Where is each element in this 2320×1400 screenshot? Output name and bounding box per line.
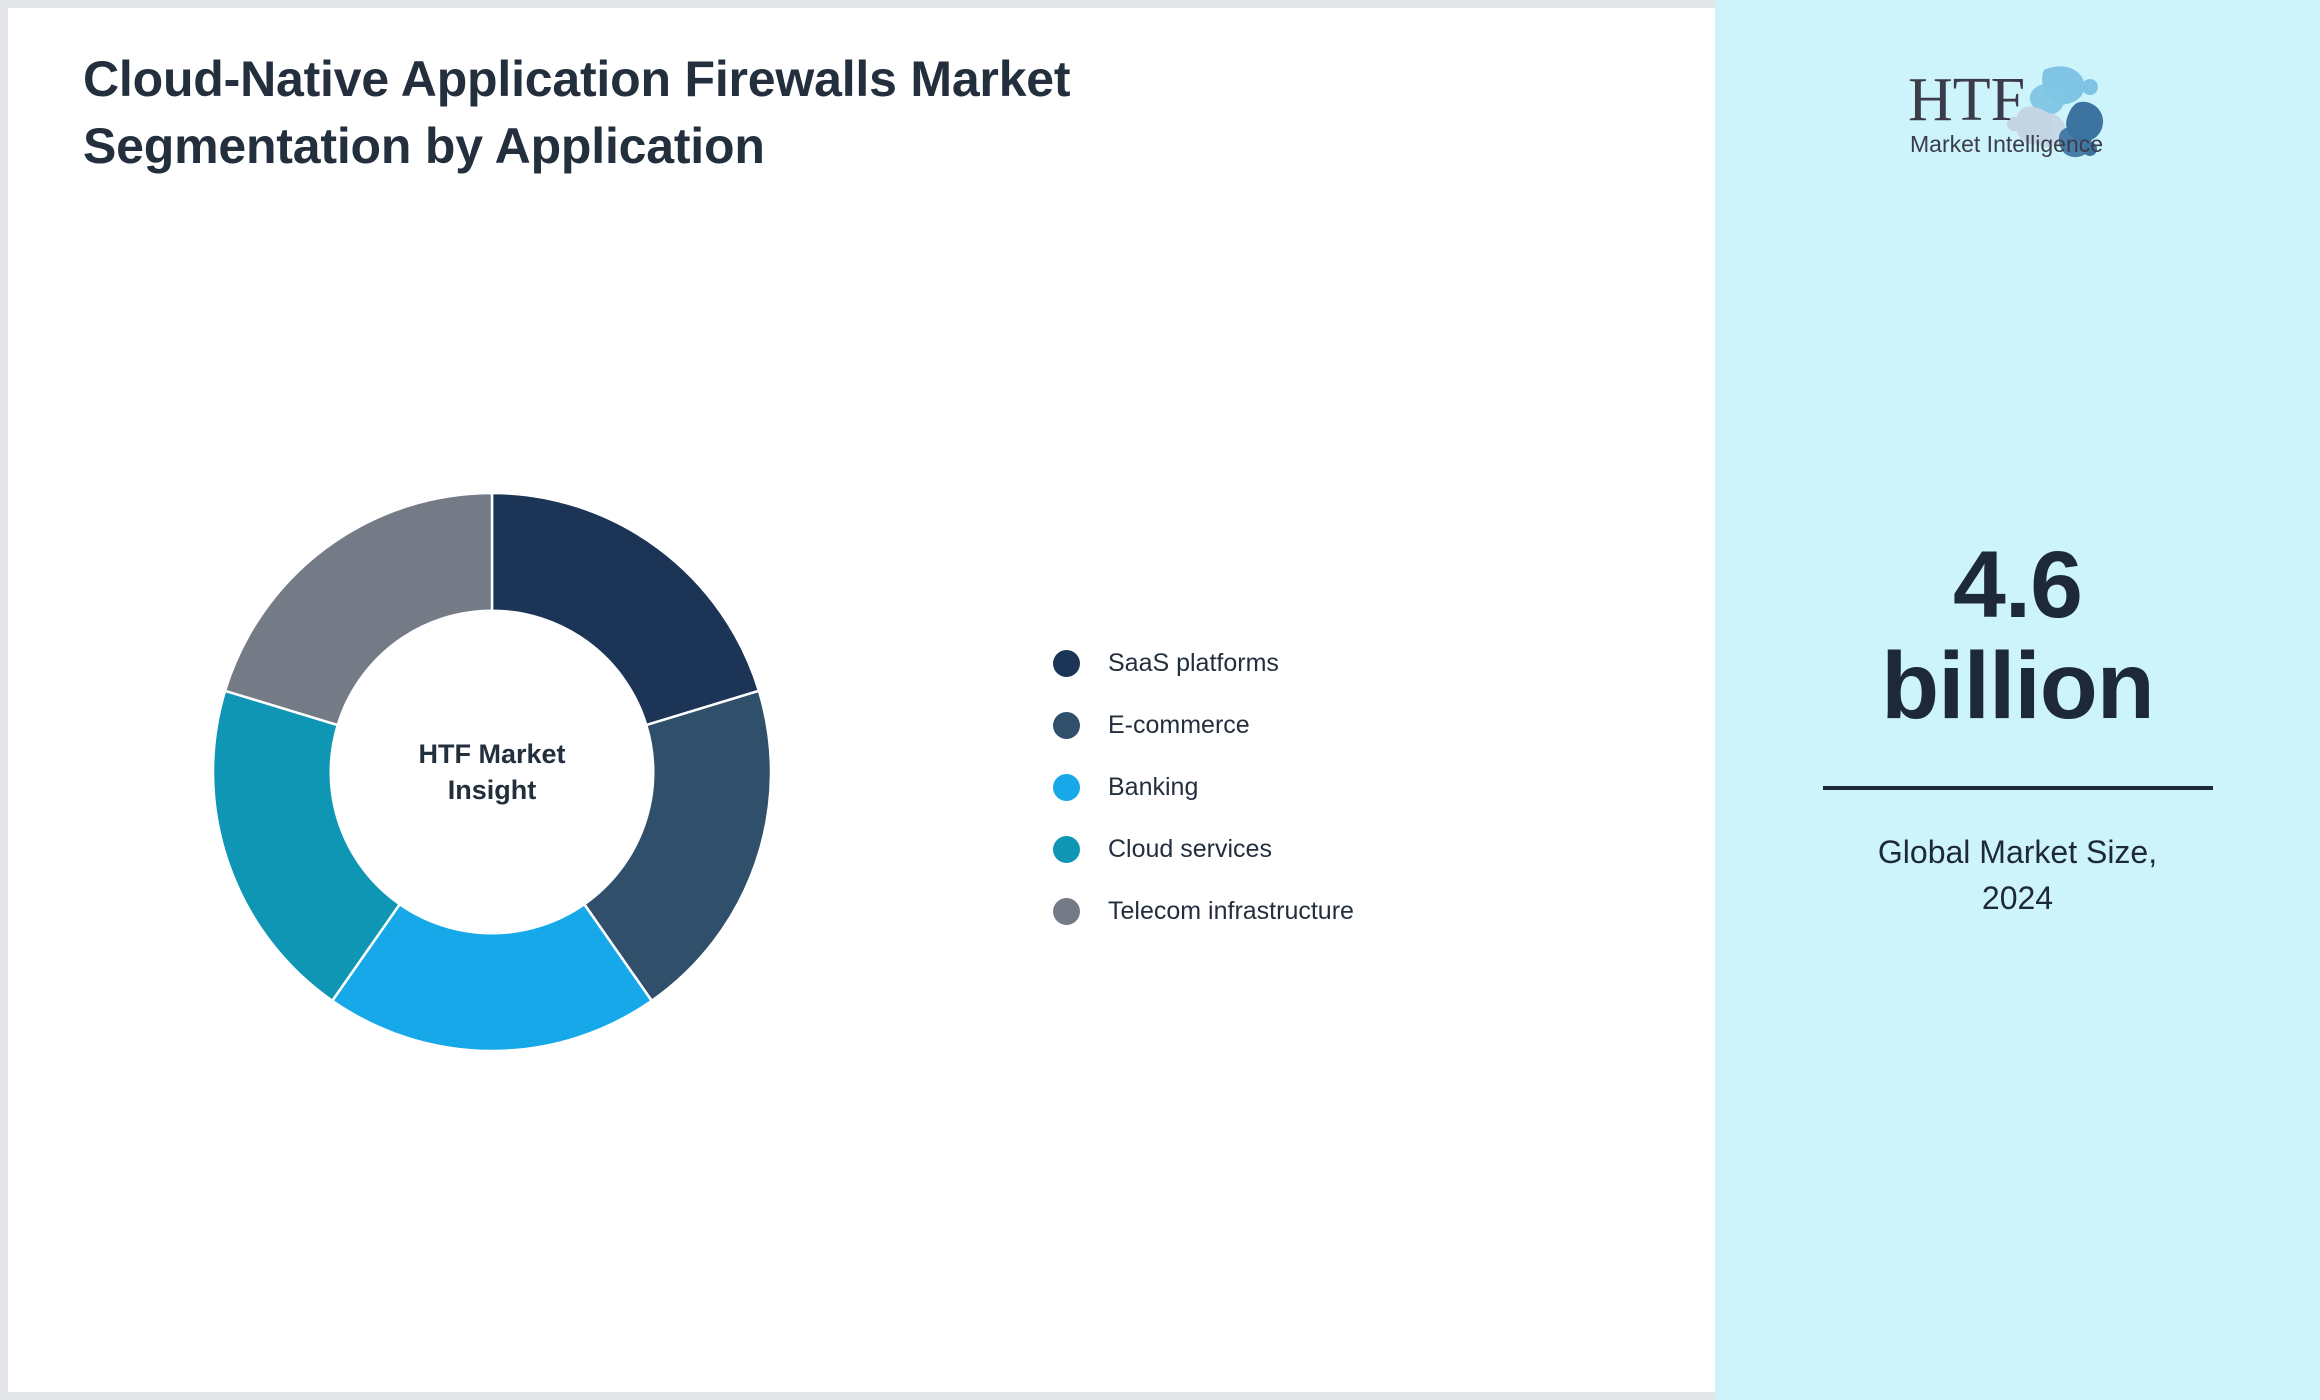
legend-label: Banking	[1108, 773, 1198, 802]
chart-legend: SaaS platforms E-commerce Banking Cloud …	[1053, 632, 1354, 942]
legend-item-e-commerce[interactable]: E-commerce	[1053, 694, 1354, 756]
left-content-panel: Cloud-Native Application Firewalls Marke…	[8, 8, 1715, 1392]
logo-tagline: Market Intelligence	[1910, 131, 2103, 157]
legend-swatch-icon	[1053, 898, 1080, 925]
donut-chart-svg	[213, 493, 771, 1051]
htf-market-intelligence-logo: HTF Market Intelligence	[1894, 52, 2142, 160]
stat-caption-line2: 2024	[1808, 876, 2228, 921]
legend-swatch-icon	[1053, 712, 1080, 739]
legend-item-cloud-services[interactable]: Cloud services	[1053, 818, 1354, 880]
legend-label: E-commerce	[1108, 711, 1250, 740]
legend-label: SaaS platforms	[1108, 649, 1279, 678]
legend-swatch-icon	[1053, 650, 1080, 677]
stat-divider	[1823, 786, 2213, 790]
legend-item-telecom-infrastructure[interactable]: Telecom infrastructure	[1053, 880, 1354, 942]
legend-item-saas-platforms[interactable]: SaaS platforms	[1053, 632, 1354, 694]
market-size-stat: 4.6 billion Global Market Size, 2024	[1808, 535, 2228, 921]
legend-item-banking[interactable]: Banking	[1053, 756, 1354, 818]
infographic-canvas: Cloud-Native Application Firewalls Marke…	[0, 0, 2320, 1400]
stat-caption: Global Market Size, 2024	[1808, 830, 2228, 921]
logo-svg: HTF Market Intelligence	[1894, 52, 2142, 160]
right-sidebar-panel: HTF Market Intelligence 4.6 billion Glob…	[1715, 0, 2320, 1400]
logo-wordmark: HTF	[1908, 66, 2025, 134]
donut-slice[interactable]	[225, 493, 492, 725]
legend-label: Cloud services	[1108, 835, 1272, 864]
stat-caption-line1: Global Market Size,	[1808, 830, 2228, 875]
donut-slice[interactable]	[492, 493, 759, 725]
legend-label: Telecom infrastructure	[1108, 897, 1354, 926]
stat-value-line2: billion	[1808, 636, 2228, 737]
stat-value-line1: 4.6	[1808, 535, 2228, 636]
donut-chart: HTF Market Insight	[213, 493, 771, 1051]
legend-swatch-icon	[1053, 774, 1080, 801]
page-title: Cloud-Native Application Firewalls Marke…	[83, 46, 1083, 179]
legend-swatch-icon	[1053, 836, 1080, 863]
